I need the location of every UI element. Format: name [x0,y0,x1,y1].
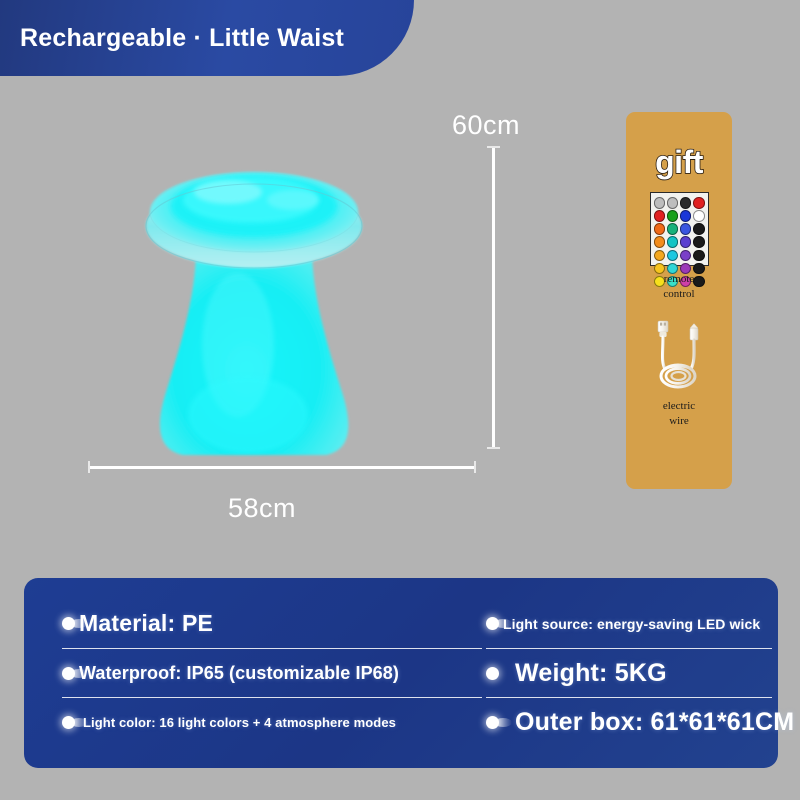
spec-row-weight: Weight: 5KG [486,649,772,697]
remote-button-0 [654,197,666,209]
gift-caption-remote-line2: control [663,288,694,300]
remote-button-16 [654,250,666,262]
gift-caption-remote-line1: remote [664,273,695,285]
remote-button-8 [654,223,666,235]
width-cap-right [474,461,476,473]
height-dimension-line [492,146,495,449]
width-cap-left [88,461,90,473]
remote-button-13 [667,236,679,248]
remote-button-15 [693,236,705,248]
gift-title: gift [655,146,703,178]
bullet-icon [62,617,75,630]
spec-light-color-label: Light color: 16 light colors + 4 atmosph… [83,715,396,730]
remote-button-11 [693,223,705,235]
remote-button-2 [680,197,692,209]
remote-button-3 [693,197,705,209]
remote-button-1 [667,197,679,209]
gift-caption-wire-line1: electric [663,400,695,412]
spec-column-left: Material: PE Waterproof: IP65 (customiza… [62,578,482,768]
height-cap-bottom [487,447,500,449]
spec-row-light-color: Light color: 16 light colors + 4 atmosph… [62,698,482,746]
remote-button-18 [680,250,692,262]
remote-button-14 [680,236,692,248]
bullet-icon [62,667,75,680]
spec-row-outer-box: Outer box: 61*61*61CM [486,698,772,746]
product-image [88,130,418,465]
usb-cable-icon [649,319,709,393]
remote-button-23 [693,263,705,275]
remote-button-7 [693,210,705,222]
height-cap-top [487,146,500,148]
gift-caption-wire-line2: wire [669,415,689,427]
spec-row-waterproof: Waterproof: IP65 (customizable IP68) [62,649,482,697]
bullet-icon [486,617,499,630]
spec-row-material: Material: PE [62,600,482,648]
remote-button-4 [654,210,666,222]
remote-button-9 [667,223,679,235]
gift-item-electric-wire: electric wire [649,319,709,428]
spec-outer-box-label: Outer box: 61*61*61CM [515,708,794,737]
spec-material-label: Material: PE [79,610,213,637]
remote-button-10 [680,223,692,235]
gift-item-remote-control: remote control [650,192,709,301]
bullet-icon [486,716,499,729]
remote-button-5 [667,210,679,222]
remote-button-27 [693,276,705,288]
width-dimension-label: 58cm [228,493,296,524]
spec-waterproof-label: Waterproof: IP65 (customizable IP68) [79,663,399,684]
spec-weight-label: Weight: 5KG [515,659,667,688]
spec-light-source-label: Light source: energy-saving LED wick [503,616,760,632]
gift-caption-wire: electric wire [663,399,695,428]
height-dimension-label: 60cm [452,110,520,141]
remote-button-17 [667,250,679,262]
bullet-icon [486,667,499,680]
led-stool-lamp-graphic [88,130,418,465]
gift-panel: gift remote control [626,112,732,489]
width-dimension-line [88,466,476,469]
spec-row-light-source: Light source: energy-saving LED wick [486,600,772,648]
specifications-panel: Material: PE Waterproof: IP65 (customiza… [24,578,778,768]
remote-button-19 [693,250,705,262]
spec-column-right: Light source: energy-saving LED wick Wei… [486,578,772,768]
header-banner: Rechargeable · Little Waist [0,0,414,76]
bullet-icon [62,716,75,729]
remote-button-6 [680,210,692,222]
page-title: Rechargeable · Little Waist [0,24,344,53]
remote-button-12 [654,236,666,248]
gift-caption-remote: remote control [663,272,694,301]
remote-control-icon [650,192,709,266]
